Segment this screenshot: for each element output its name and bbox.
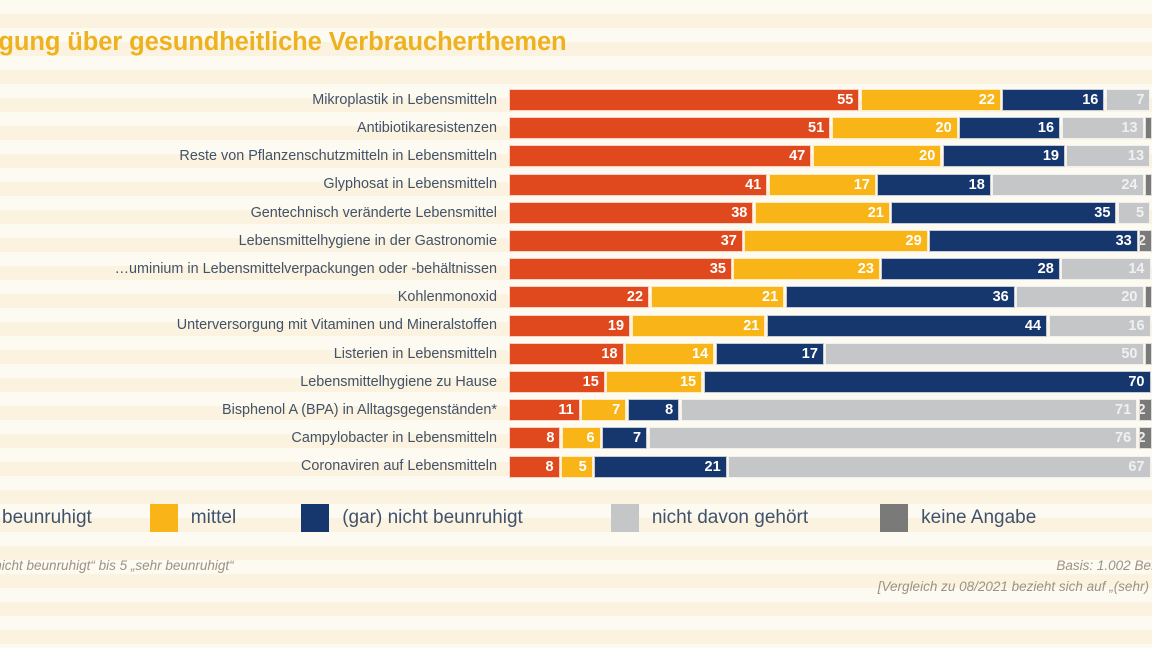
footnote-left-line-2: …oben	[0, 577, 234, 598]
legend-label-nicht-beunruhigt: (gar) nicht beunruhigt	[342, 507, 523, 529]
bar-segment-3: 67	[728, 456, 1150, 478]
bar-segment-2: 28	[881, 258, 1059, 280]
chart-row: Coronaviren auf Lebensmitteln8521670	[0, 452, 1152, 480]
bar-segment-1: 21	[651, 286, 785, 308]
bar-segment-1: 20	[813, 145, 942, 167]
legend-item-mittel: mittel	[150, 504, 236, 532]
bar-segment-0: 19	[509, 315, 630, 337]
bar-segment-3: 7	[1106, 89, 1151, 111]
bar-segment-1: 20	[832, 117, 958, 139]
bar-track: 181417501	[509, 343, 1152, 365]
chart-row: Antibiotikaresistenzen512016131	[0, 114, 1152, 142]
bar-track: 1178712	[509, 399, 1152, 421]
bar-segment-3: 14	[1061, 258, 1150, 280]
chart-row: Reste von Pflanzenschutzmitteln in Leben…	[0, 142, 1152, 170]
bar-segment-1: 5	[561, 456, 593, 478]
bar-segment-2: 7	[602, 427, 647, 449]
legend-item-nicht-davon-gehoert: nicht davon gehört	[611, 504, 808, 532]
chart-legend: …beunruhigtmittel(gar) nicht beunruhigtn…	[0, 504, 1152, 532]
bar-track: 411718241	[509, 174, 1152, 196]
category-label: …uminium in Lebensmittelverpackungen ode…	[0, 262, 509, 276]
bar-segment-3: 5	[1118, 202, 1150, 224]
bar-segment-3: 50	[825, 343, 1143, 365]
footnote-right-line-2: [Vergleich zu 08/2021 bezieht sich auf „…	[878, 577, 1152, 598]
category-label: Listerien in Lebensmitteln	[0, 347, 509, 361]
bar-segment-0: 55	[509, 89, 859, 111]
bar-track: 8521670	[509, 456, 1152, 478]
category-label: Lebensmittelhygiene in der Gastronomie	[0, 234, 509, 248]
bar-segment-4: 2	[1139, 427, 1152, 449]
chart-row: Bisphenol A (BPA) in Alltagsgegenständen…	[0, 396, 1152, 424]
bar-segment-0: 15	[509, 371, 605, 393]
bar-track: 15157000	[509, 371, 1152, 393]
chart-row: Lebensmittelhygiene in der Gastronomie37…	[0, 227, 1152, 255]
legend-label-sehr-beunruhigt: …beunruhigt	[0, 507, 92, 529]
bar-segment-1: 22	[861, 89, 1001, 111]
bar-segment-3: 24	[992, 174, 1143, 196]
category-label: Coronaviren auf Lebensmitteln	[0, 459, 509, 473]
chart-row: Lebensmittelhygiene zu Hause15157000	[0, 368, 1152, 396]
bar-track: 222136201	[509, 286, 1152, 308]
legend-swatch-mittel	[150, 504, 178, 532]
category-label: Kohlenmonoxid	[0, 290, 509, 304]
legend-item-nicht-beunruhigt: (gar) nicht beunruhigt	[301, 504, 523, 532]
bar-segment-4: 2	[1139, 230, 1152, 252]
bar-track: 37293302	[509, 230, 1152, 252]
bar-track: 352328140	[509, 258, 1152, 280]
legend-swatch-nicht-davon-gehoert	[611, 504, 639, 532]
category-label: Gentechnisch veränderte Lebensmittel	[0, 206, 509, 220]
category-label: Bisphenol A (BPA) in Alltagsgegenständen…	[0, 403, 509, 417]
bar-segment-0: 37	[509, 230, 743, 252]
legend-swatch-keine-angabe	[880, 504, 908, 532]
bar-segment-2: 8	[628, 399, 679, 421]
bar-segment-0: 18	[509, 343, 624, 365]
bar-segment-1: 21	[755, 202, 890, 224]
footnote-left: … 1 „gar nicht beunruhigt“ bis 5 „sehr b…	[0, 556, 234, 598]
bar-track: 38213550	[509, 202, 1152, 224]
legend-label-mittel: mittel	[191, 507, 236, 529]
category-label: Unterversorgung mit Vitaminen und Minera…	[0, 318, 509, 332]
bar-segment-0: 41	[509, 174, 767, 196]
bar-segment-2: 19	[943, 145, 1065, 167]
footnote-right-line-1: Basis: 1.002 Befragte; Ang…	[878, 556, 1152, 577]
stacked-bar-chart: Mikroplastik in Lebensmitteln55221670Ant…	[0, 86, 1152, 481]
bar-segment-4: 2	[1139, 399, 1152, 421]
bar-segment-2: 17	[716, 343, 824, 365]
chart-row: …uminium in Lebensmittelverpackungen ode…	[0, 255, 1152, 283]
chart-row: Mikroplastik in Lebensmitteln55221670	[0, 86, 1152, 114]
bar-segment-3: 76	[649, 427, 1138, 449]
footnote-left-line-1: … 1 „gar nicht beunruhigt“ bis 5 „sehr b…	[0, 556, 234, 577]
chart-row: Listerien in Lebensmitteln181417501	[0, 340, 1152, 368]
page-title: …igung über gesundheitliche Verbrauchert…	[0, 28, 726, 57]
bar-segment-2: 35	[891, 202, 1116, 224]
bar-track: 867762	[509, 427, 1152, 449]
bar-segment-3: 71	[681, 399, 1138, 421]
bar-segment-2: 18	[877, 174, 990, 196]
bar-segment-1: 6	[562, 427, 601, 449]
bar-segment-2: 33	[929, 230, 1138, 252]
bar-segment-1: 14	[625, 343, 714, 365]
bar-segment-4: 1	[1145, 174, 1152, 196]
bar-segment-2: 44	[767, 315, 1047, 337]
bar-segment-0: 47	[509, 145, 811, 167]
chart-row: Campylobacter in Lebensmitteln867762	[0, 424, 1152, 452]
bar-segment-0: 38	[509, 202, 753, 224]
legend-label-nicht-davon-gehoert: nicht davon gehört	[652, 507, 808, 529]
legend-swatch-nicht-beunruhigt	[301, 504, 329, 532]
bar-segment-4: 1	[1145, 117, 1152, 139]
bar-segment-1: 15	[606, 371, 702, 393]
legend-label-keine-angabe: keine Angabe	[921, 507, 1036, 529]
bar-segment-1: 7	[581, 399, 626, 421]
chart-row: Unterversorgung mit Vitaminen und Minera…	[0, 312, 1152, 340]
bar-segment-1: 21	[632, 315, 766, 337]
bar-segment-3: 13	[1066, 145, 1150, 167]
bar-segment-2: 16	[1002, 89, 1104, 111]
bar-track: 512016131	[509, 117, 1152, 139]
bar-track: 192144160	[509, 315, 1152, 337]
chart-row: Kohlenmonoxid222136201	[0, 283, 1152, 311]
bar-segment-3: 20	[1016, 286, 1143, 308]
bar-segment-1: 17	[769, 174, 876, 196]
bar-segment-0: 8	[509, 456, 560, 478]
bar-segment-4: 1	[1145, 343, 1152, 365]
bar-segment-3: 13	[1062, 117, 1144, 139]
bar-segment-4: 1	[1145, 286, 1152, 308]
legend-item-sehr-beunruhigt: …beunruhigt	[0, 504, 92, 532]
bar-segment-3: 16	[1049, 315, 1151, 337]
bar-segment-0: 22	[509, 286, 649, 308]
bar-segment-1: 23	[733, 258, 880, 280]
bar-track: 472019130	[509, 145, 1152, 167]
category-label: Lebensmittelhygiene zu Hause	[0, 375, 509, 389]
category-label: Campylobacter in Lebensmitteln	[0, 431, 509, 445]
bar-segment-0: 35	[509, 258, 732, 280]
chart-row: Gentechnisch veränderte Lebensmittel3821…	[0, 199, 1152, 227]
bar-segment-1: 29	[744, 230, 927, 252]
category-label: Antibiotikaresistenzen	[0, 121, 509, 135]
chart-page: …igung über gesundheitliche Verbrauchert…	[0, 0, 1152, 648]
bar-segment-2: 21	[594, 456, 726, 478]
category-label: Mikroplastik in Lebensmitteln	[0, 93, 509, 107]
bar-segment-2: 16	[959, 117, 1060, 139]
chart-row: Glyphosat in Lebensmitteln411718241	[0, 171, 1152, 199]
category-label: Glyphosat in Lebensmitteln	[0, 177, 509, 191]
bar-segment-0: 11	[509, 399, 580, 421]
bar-segment-2: 36	[786, 286, 1015, 308]
bar-segment-2: 70	[704, 371, 1151, 393]
bar-segment-0: 51	[509, 117, 830, 139]
bar-segment-0: 8	[509, 427, 560, 449]
footnote-right: Basis: 1.002 Befragte; Ang… [Vergleich z…	[878, 556, 1152, 598]
bar-track: 55221670	[509, 89, 1152, 111]
category-label: Reste von Pflanzenschutzmitteln in Leben…	[0, 149, 509, 163]
legend-item-keine-angabe: keine Angabe	[880, 504, 1036, 532]
